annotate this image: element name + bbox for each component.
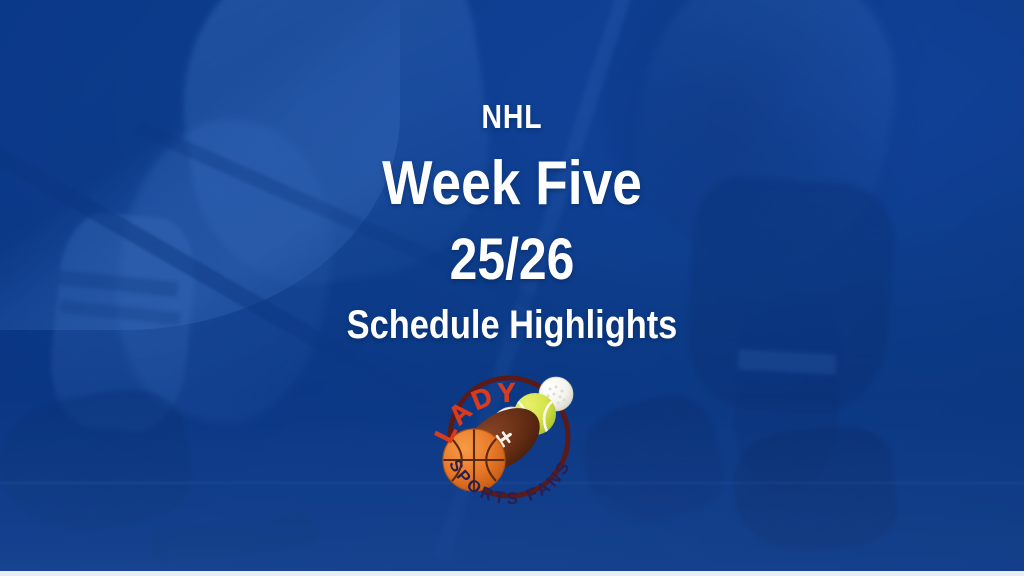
league-label: NHL [72, 100, 953, 133]
subtitle-label: Schedule Highlights [72, 305, 953, 345]
season-label: 25/26 [72, 231, 953, 289]
bottom-edge-strip [0, 571, 1024, 576]
page-title: Week Five [72, 153, 953, 215]
slide-canvas: NHL Week Five 25/26 Schedule Highlights [0, 0, 1024, 576]
lady-sports-fans-logo[interactable]: LADY SPORTS FANS [428, 356, 590, 518]
title-block: NHL Week Five 25/26 Schedule Highlights [0, 100, 1024, 345]
